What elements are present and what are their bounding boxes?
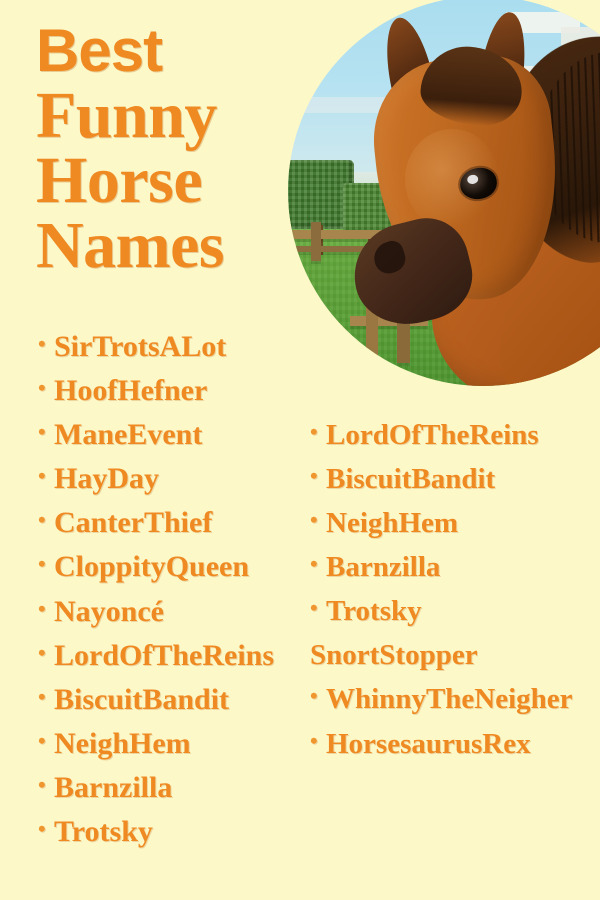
list-item: •Trotsky	[38, 810, 338, 854]
bullet-icon: •	[38, 333, 54, 355]
bullet-icon: •	[310, 421, 326, 443]
list-item: •WhinnyTheNeigher	[310, 677, 600, 721]
list-item-label: ManeEvent	[54, 413, 202, 457]
list-item: SnortStopper	[310, 633, 600, 677]
list-item-label: NeighHem	[54, 722, 191, 766]
list-item-label: BiscuitBandit	[54, 678, 229, 722]
list-item-label: HayDay	[54, 457, 159, 501]
bullet-icon: •	[38, 818, 54, 840]
list-item-label: SnortStopper	[310, 633, 478, 677]
bullet-icon: •	[310, 597, 326, 619]
list-item: •HoofHefner	[38, 369, 338, 413]
bullet-icon: •	[310, 553, 326, 575]
list-item: •Trotsky	[310, 589, 600, 633]
list-item-label: HoofHefner	[54, 369, 207, 413]
list-item-label: HorsesaurusRex	[326, 722, 531, 766]
list-item-label: Trotsky	[54, 810, 153, 854]
bullet-icon: •	[310, 685, 326, 707]
list-item: •Barnzilla	[310, 545, 600, 589]
list-item-label: CloppityQueen	[54, 545, 249, 589]
bullet-icon: •	[38, 465, 54, 487]
list-item-label: NeighHem	[326, 501, 458, 545]
bullet-icon: •	[310, 509, 326, 531]
bullet-icon: •	[38, 730, 54, 752]
list-item-label: WhinnyTheNeigher	[326, 677, 573, 721]
list-item-label: Nayoncé	[54, 590, 164, 634]
poster-canvas: Best Funny Horse Names •SirTrotsALot•Hoo…	[0, 0, 600, 900]
list-item: •NeighHem	[38, 722, 338, 766]
name-list-right: •LordOfTheReins•BiscuitBandit•NeighHem•B…	[310, 413, 600, 766]
list-item-label: LordOfTheReins	[54, 634, 274, 678]
list-item: •BiscuitBandit	[310, 457, 600, 501]
list-item: •SirTrotsALot	[38, 325, 338, 369]
list-item-label: SirTrotsALot	[54, 325, 226, 369]
bullet-icon: •	[38, 598, 54, 620]
list-item: •CanterThief	[38, 501, 338, 545]
list-item: •Barnzilla	[38, 766, 338, 810]
bullet-icon: •	[38, 553, 54, 575]
list-item-label: Barnzilla	[326, 545, 440, 589]
list-item-label: LordOfTheReins	[326, 413, 539, 457]
list-item: •CloppityQueen	[38, 545, 338, 589]
bullet-icon: •	[38, 642, 54, 664]
list-item-label: CanterThief	[54, 501, 212, 545]
bullet-icon: •	[38, 774, 54, 796]
name-lists: •SirTrotsALot•HoofHefner•ManeEvent•HayDa…	[0, 0, 600, 900]
list-item: •NeighHem	[310, 501, 600, 545]
name-list-left: •SirTrotsALot•HoofHefner•ManeEvent•HayDa…	[38, 325, 338, 854]
bullet-icon: •	[38, 509, 54, 531]
list-item: •LordOfTheReins	[310, 413, 600, 457]
list-item-label: BiscuitBandit	[326, 457, 495, 501]
bullet-icon: •	[38, 686, 54, 708]
list-item-label: Trotsky	[326, 589, 422, 633]
list-item-label: Barnzilla	[54, 766, 172, 810]
list-item: •BiscuitBandit	[38, 678, 338, 722]
list-item: •Nayoncé	[38, 590, 338, 634]
bullet-icon: •	[310, 465, 326, 487]
bullet-icon: •	[310, 730, 326, 752]
list-item: •ManeEvent	[38, 413, 338, 457]
bullet-icon: •	[38, 421, 54, 443]
bullet-icon: •	[38, 377, 54, 399]
list-item: •HorsesaurusRex	[310, 722, 600, 766]
list-item: •LordOfTheReins	[38, 634, 338, 678]
list-item: •HayDay	[38, 457, 338, 501]
